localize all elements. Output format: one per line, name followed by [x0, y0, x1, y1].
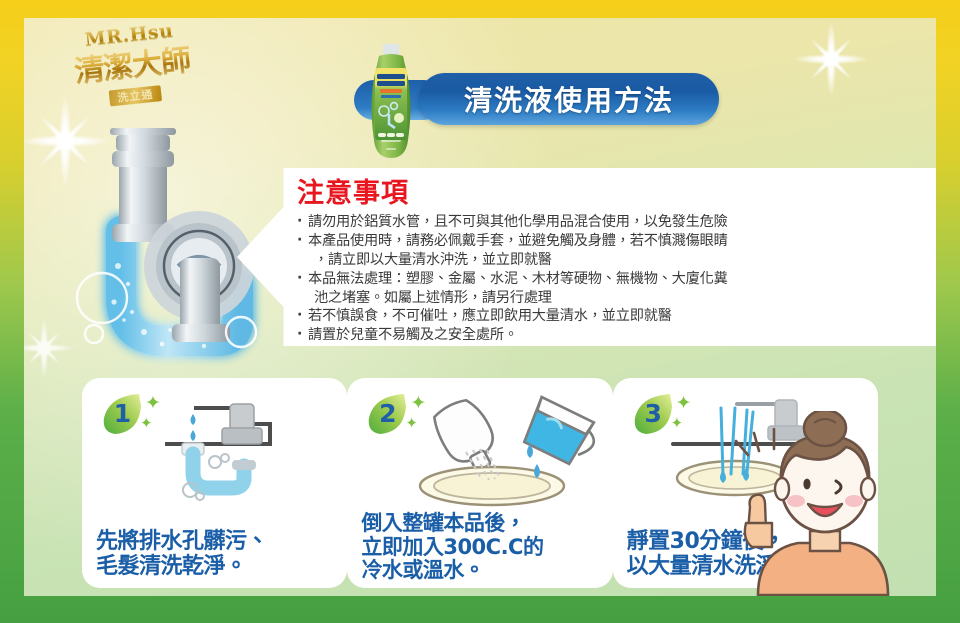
product-bottle-icon	[361, 44, 421, 162]
sparkle-icon-step3-b: ✦	[671, 416, 684, 431]
step-caption-line: 倒入整罐本品後，	[361, 512, 604, 536]
step-caption-1: 先將排水孔髒污、 毛髮清洗乾淨。	[96, 530, 339, 580]
warning-item-continuation: 池之堵塞。如屬上述情形，請另行處理	[297, 289, 936, 308]
warning-panel: 注意事項 請勿用於鋁質水管，且不可與其他化學用品混合使用，以免發生危險 本產品使…	[237, 168, 936, 346]
step-caption-line: 毛髮清洗乾淨。	[96, 555, 339, 580]
step-caption-line: 冷水或溫水。	[361, 559, 604, 583]
warning-title: 注意事項	[297, 178, 936, 209]
poster-root: MR.Hsu 清潔大師 洗立通	[0, 0, 960, 623]
step-caption-line: 先將排水孔髒污、	[96, 530, 339, 555]
sparkle-icon-step3-a: ✦	[676, 394, 692, 413]
step-number-1: 1	[99, 390, 146, 437]
leaf-badge-icon-3: 3	[630, 390, 677, 437]
brand-logo-tag: 洗立通	[109, 85, 162, 106]
pointing-lady-illustration	[728, 411, 908, 596]
warning-item: 本品無法處理：塑膠、金屬、水泥、木材等硬物、無機物、大廈化糞	[297, 270, 936, 289]
sparkle-icon-step2-a: ✦	[410, 394, 426, 413]
warning-list: 請勿用於鋁質水管，且不可與其他化學用品混合使用，以免發生危險 本產品使用時，請務…	[297, 213, 936, 345]
sparkle-icon-step1-b: ✦	[140, 416, 153, 431]
sparkle-icon-step2-b: ✦	[405, 416, 418, 431]
sparkle-icon-step1-a: ✦	[145, 394, 161, 413]
step-caption-2: 倒入整罐本品後， 立即加入300C.C的 冷水或溫水。	[361, 512, 604, 583]
step-caption-line: 立即加入300C.C的	[361, 536, 604, 560]
page-title-banner: 清洗液使用方法	[419, 73, 719, 125]
step-number-2: 2	[364, 390, 411, 437]
step-card-2[interactable]: 2 ✦ ✦	[347, 378, 612, 588]
warning-item: 本產品使用時，請務必佩戴手套，並避免觸及身體，若不慎濺傷眼睛	[297, 232, 936, 251]
page-title: 清洗液使用方法	[464, 79, 674, 119]
leaf-badge-icon-1: 1	[99, 390, 146, 437]
warning-item-continuation: ，請立即以大量清水沖洗，並立即就醫	[297, 251, 936, 270]
warning-item: 若不慎誤食，不可催吐，應立即飲用大量清水，並立即就醫	[297, 307, 936, 326]
step-number-3: 3	[630, 390, 677, 437]
brand-logo: MR.Hsu 清潔大師 洗立通	[58, 18, 206, 111]
leaf-badge-icon-2: 2	[364, 390, 411, 437]
warning-item: 請置於兒童不易觸及之安全處所。	[297, 326, 936, 345]
step-card-1[interactable]: 1 ✦ ✦	[82, 378, 347, 588]
poster-inner-panel: MR.Hsu 清潔大師 洗立通	[24, 18, 936, 596]
warning-item: 請勿用於鋁質水管，且不可與其他化學用品混合使用，以免發生危險	[297, 213, 936, 232]
sparkle-icon-topright	[794, 22, 868, 96]
